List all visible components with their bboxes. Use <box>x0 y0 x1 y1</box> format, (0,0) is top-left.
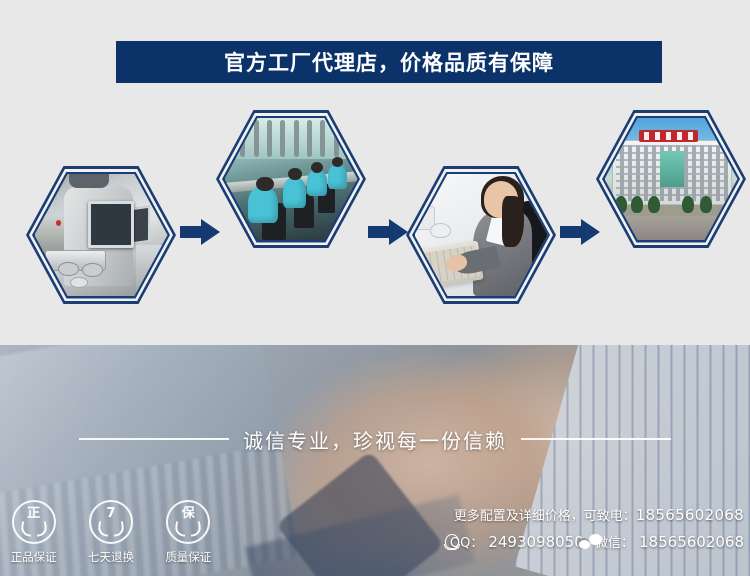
process-step-3 <box>406 166 556 304</box>
badge-label: 质量保证 <box>161 549 216 565</box>
hands-holding-icon: 保 <box>166 500 210 544</box>
slogan-rule-right <box>521 438 671 440</box>
process-step-4 <box>596 110 746 248</box>
slogan-rule-left <box>79 438 229 440</box>
slogan-text: 诚信专业，珍视每一份信赖 <box>243 425 507 454</box>
page-title: 官方工厂代理店，价格品质有保障 <box>224 47 554 77</box>
phone-prefix-text: 更多配置及详细价格，可致电： <box>454 509 636 524</box>
phone-line: 更多配置及详细价格，可致电：18565602068 <box>444 505 744 524</box>
arrow-1 <box>180 219 220 245</box>
handshake-section: 诚信专业，珍视每一份信赖 正 正品保证 7 七天退换 保 <box>0 345 750 576</box>
badge-glyph: 保 <box>168 507 208 521</box>
slogan: 诚信专业，珍视每一份信赖 <box>0 423 750 455</box>
badge-label: 正品保证 <box>6 549 61 565</box>
wechat-icon <box>589 534 590 549</box>
phone-number[interactable]: 18565602068 <box>636 506 744 524</box>
qq-icon <box>444 534 445 550</box>
badge-label: 七天退换 <box>83 549 138 565</box>
badge-quality: 保 质量保证 <box>161 500 216 576</box>
hands-holding-icon: 正 <box>12 500 56 544</box>
promo-page: 官方工厂代理店，价格品质有保障 <box>0 0 750 576</box>
hands-shape <box>175 522 201 535</box>
badge-authentic: 正 正品保证 <box>6 500 61 576</box>
badge-seven-day-return: 7 七天退换 <box>83 500 138 576</box>
wechat-number[interactable]: 18565602068 <box>639 533 744 551</box>
im-line: QQ：2493098050 微信：18565602068 <box>444 532 744 551</box>
qq-number[interactable]: 2493098050 <box>488 533 583 551</box>
top-section: 官方工厂代理店，价格品质有保障 <box>0 0 750 345</box>
process-step-2 <box>216 110 366 248</box>
arrow-3 <box>560 219 600 245</box>
hands-shape <box>21 522 47 535</box>
arrow-2 <box>368 219 408 245</box>
title-banner: 官方工厂代理店，价格品质有保障 <box>116 41 662 83</box>
contact-info: 更多配置及详细价格，可致电：18565602068 QQ：2493098050 … <box>444 505 744 551</box>
trust-badges: 正 正品保证 7 七天退换 保 质量保证 <box>6 500 216 576</box>
hands-shape <box>98 522 124 535</box>
badge-glyph: 7 <box>91 507 131 521</box>
hands-holding-icon: 7 <box>89 500 133 544</box>
process-step-1 <box>26 166 176 304</box>
badge-glyph: 正 <box>14 507 54 521</box>
